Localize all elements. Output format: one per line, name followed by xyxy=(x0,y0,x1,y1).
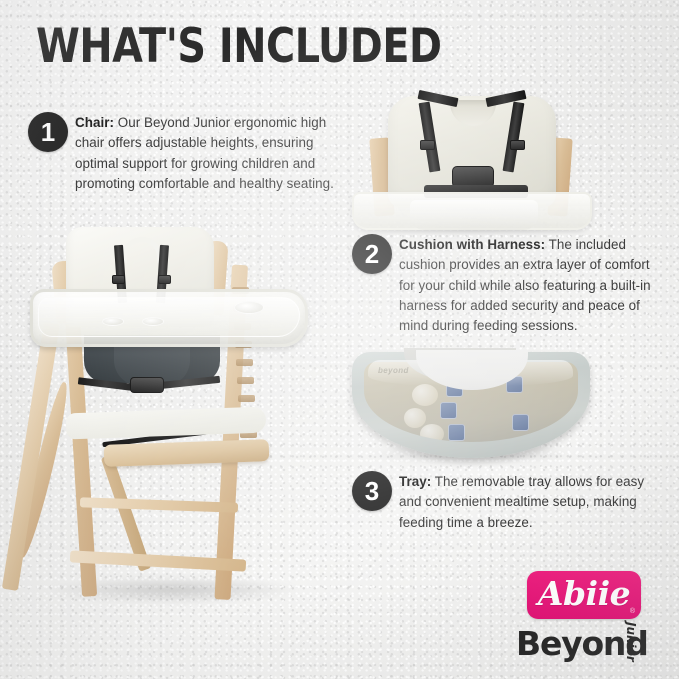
infographic-canvas: WHAT'S INCLUDED xyxy=(0,0,679,679)
tray-brand-label: beyond xyxy=(378,366,409,375)
product-line-suffix: Junior xyxy=(624,622,638,662)
tray-label-icon xyxy=(448,424,465,441)
tray-label-icon xyxy=(512,414,529,431)
tray-decor-food xyxy=(412,384,438,406)
step-heading-2: Cushion with Harness: xyxy=(399,237,545,252)
brand-logo-wordmark: Abiie xyxy=(527,571,641,619)
brand-logo: Abiie ® Beyond Junior xyxy=(506,566,662,666)
chair-height-notch xyxy=(237,377,254,384)
chair-height-notch xyxy=(236,359,253,366)
cushion-scene-tray-inner xyxy=(410,200,538,230)
page-title: WHAT'S INCLUDED xyxy=(36,22,442,71)
registered-trademark-icon: ® xyxy=(630,608,635,615)
brand-logo-badge: Abiie ® xyxy=(527,571,641,619)
tray-label-icon xyxy=(440,402,457,419)
chair-middle-rung xyxy=(80,497,238,513)
chair-height-notch xyxy=(238,395,255,402)
cushion-harness-buckle-left xyxy=(420,140,435,150)
step-text-1: Chair: Our Beyond Junior ergonomic high … xyxy=(75,113,338,194)
chair-tray-recess xyxy=(102,317,124,326)
step-heading-1: Chair: xyxy=(75,115,114,130)
step-number-badge-2: 2 xyxy=(352,234,392,274)
product-image-cushion-with-harness xyxy=(352,88,592,228)
step-number-badge-1: 1 xyxy=(28,112,68,152)
chair-harness-buckle-left xyxy=(112,275,125,284)
chair-tray-cup-holder xyxy=(234,301,264,314)
step-text-3: Tray: The removable tray allows for easy… xyxy=(399,472,665,533)
step-heading-3: Tray: xyxy=(399,474,431,489)
step-body-1: Our Beyond Junior ergonomic high chair o… xyxy=(75,115,334,191)
tray-decor-food xyxy=(420,424,444,442)
step-text-2: Cushion with Harness: The included cushi… xyxy=(399,235,665,336)
step-body-3: The removable tray allows for easy and c… xyxy=(399,474,644,530)
chair-tray-recess xyxy=(142,317,164,326)
step-number-badge-3: 3 xyxy=(352,471,392,511)
tray-decor-food xyxy=(404,408,426,428)
product-image-tray: beyond xyxy=(352,352,590,458)
chair-harness-center-buckle xyxy=(130,377,164,393)
cushion-harness-buckle-right xyxy=(510,140,525,150)
product-image-high-chair xyxy=(18,205,338,605)
chair-footrest xyxy=(104,439,270,467)
chair-harness-buckle-right xyxy=(158,275,171,284)
